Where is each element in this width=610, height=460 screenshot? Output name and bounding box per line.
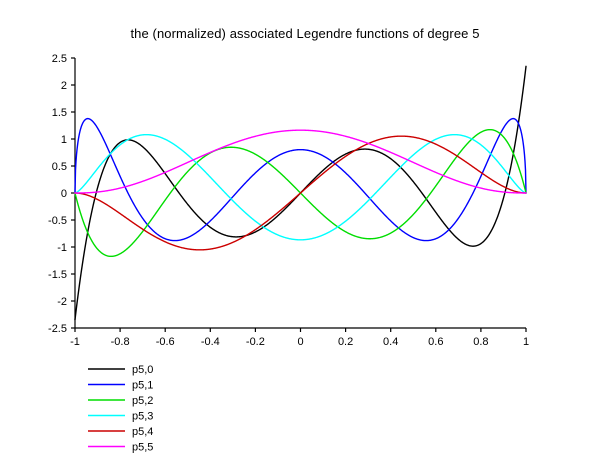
legend: p5,0p5,1p5,2p5,3p5,4p5,5 — [88, 364, 153, 454]
x-tick-label: 0 — [297, 336, 303, 348]
y-tick-label: -1.5 — [48, 269, 67, 281]
x-tick-label: 1 — [523, 336, 529, 348]
plot-area: -2.5-2-1.5-1-0.500.511.522.5 -1-0.8-0.6-… — [0, 0, 610, 460]
x-tick-label: 0.2 — [338, 336, 353, 348]
y-axis-ticks: -2.5-2-1.5-1-0.500.511.522.5 — [48, 53, 75, 335]
y-tick-label: 2 — [61, 80, 67, 92]
curve-p5-5 — [75, 130, 526, 193]
curve-p5-1 — [75, 119, 526, 241]
x-tick-label: 0.6 — [428, 336, 443, 348]
x-axis-ticks: -1-0.8-0.6-0.4-0.200.20.40.60.81 — [70, 328, 529, 348]
x-tick-label: -0.4 — [201, 336, 220, 348]
y-tick-label: 0.5 — [52, 161, 67, 173]
legend-label-p5-1: p5,1 — [132, 380, 153, 392]
y-tick-label: 2.5 — [52, 53, 67, 65]
y-tick-label: -2 — [57, 296, 67, 308]
x-tick-label: -1 — [70, 336, 80, 348]
y-tick-label: 1.5 — [52, 107, 67, 119]
x-tick-label: 0.8 — [473, 336, 488, 348]
curve-p5-4 — [75, 136, 526, 250]
y-tick-label: -0.5 — [48, 215, 67, 227]
y-tick-label: 0 — [61, 188, 67, 200]
x-tick-label: -0.2 — [246, 336, 265, 348]
y-tick-label: -2.5 — [48, 323, 67, 335]
figure: the (normalized) associated Legendre fun… — [0, 0, 610, 460]
y-tick-label: -1 — [57, 242, 67, 254]
y-tick-label: 1 — [61, 134, 67, 146]
data-curves — [75, 66, 526, 319]
legend-label-p5-2: p5,2 — [132, 395, 153, 407]
x-tick-label: 0.4 — [383, 336, 398, 348]
x-tick-label: -0.8 — [111, 336, 130, 348]
legend-label-p5-3: p5,3 — [132, 411, 153, 423]
legend-label-p5-5: p5,5 — [132, 442, 153, 454]
x-tick-label: -0.6 — [156, 336, 175, 348]
curve-p5-3 — [75, 135, 526, 240]
legend-label-p5-0: p5,0 — [132, 364, 153, 376]
legend-label-p5-4: p5,4 — [132, 426, 153, 438]
